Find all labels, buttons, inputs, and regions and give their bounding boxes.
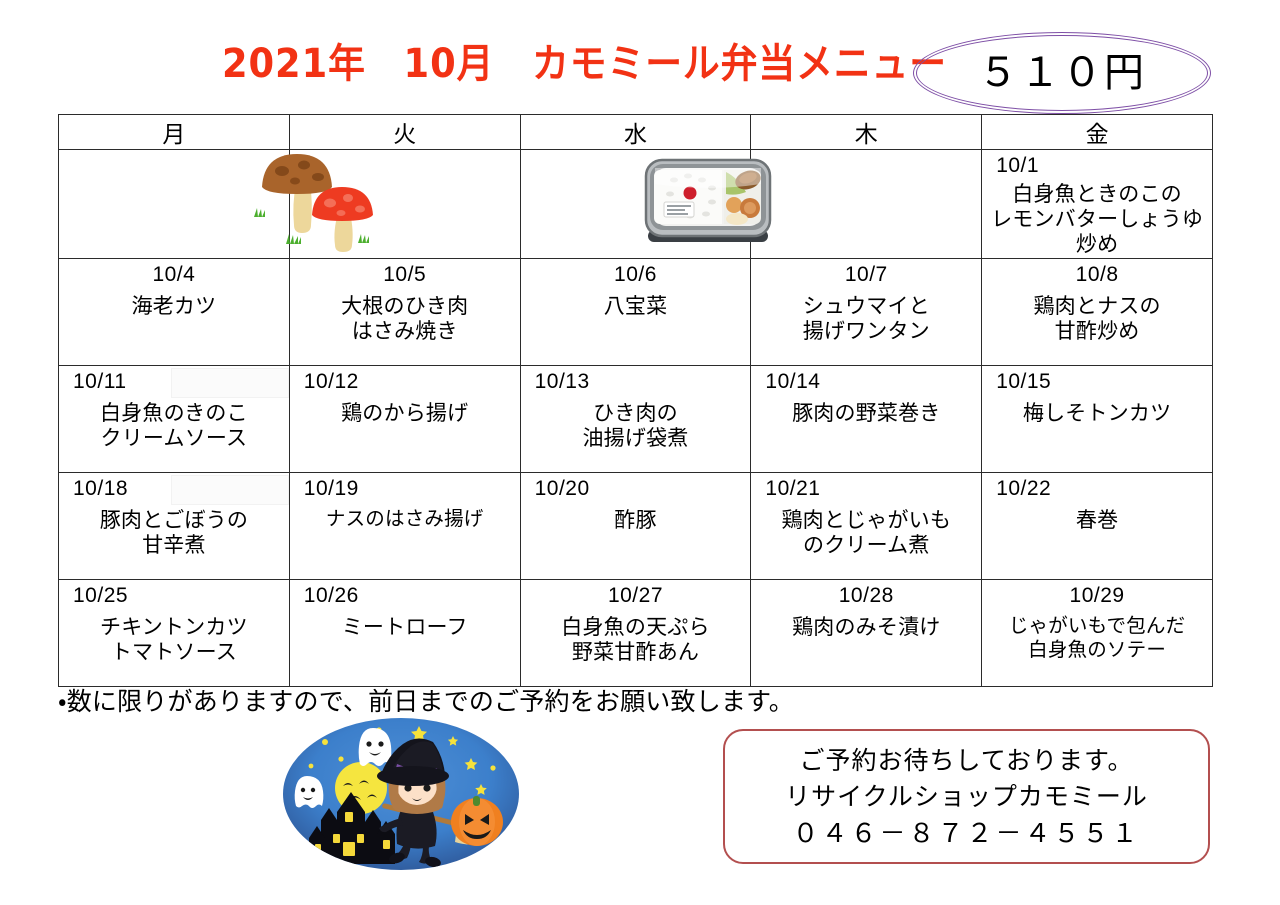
cell-dish: 鶏肉のみそ漬け xyxy=(751,609,981,640)
menu-cell-10-14: 10/14 豚肉の野菜巻き xyxy=(751,366,981,472)
cell-date: 10/12 xyxy=(290,366,520,395)
menu-cell-10-15: 10/15 梅しそトンカツ xyxy=(982,366,1212,472)
menu-cell-10-25: 10/25 チキントンカツ トマトソース xyxy=(59,580,289,686)
menu-cell-10-1: 10/1 白身魚ときのこの レモンバターしょうゆ 炒め xyxy=(982,150,1212,258)
menu-cell-10-6: 10/6 八宝菜 xyxy=(521,259,751,365)
cell-dish: シュウマイと 揚げワンタン xyxy=(751,288,981,344)
cell-date: 10/25 xyxy=(59,580,289,609)
menu-cell-10-4: 10/4 海老カツ xyxy=(59,259,289,365)
column-header-tuesday: 火 xyxy=(289,115,520,150)
cell-date: 10/20 xyxy=(521,473,751,502)
menu-cell-10-7: 10/7 シュウマイと 揚げワンタン xyxy=(751,259,981,365)
menu-cell-empty xyxy=(521,150,751,258)
menu-cell-10-22: 10/22 春巻 xyxy=(982,473,1212,579)
menu-cell-10-29: 10/29 じゃがいもで包んだ 白身魚のソテー xyxy=(982,580,1212,686)
reservation-note: ・数に限りがありますので、前日までのご予約をお願い致します。 xyxy=(58,686,794,718)
cell-date: 10/8 xyxy=(982,259,1212,288)
cell-dish: チキントンカツ トマトソース xyxy=(59,609,289,665)
cell-dish: 海老カツ xyxy=(59,288,289,319)
cell-dish: じゃがいもで包んだ 白身魚のソテー xyxy=(982,609,1212,662)
menu-cell-10-27: 10/27 白身魚の天ぷら 野菜甘酢あん xyxy=(521,580,751,686)
cell-date: 10/11 xyxy=(59,366,289,395)
cell-dish: 鶏肉とじゃがいも のクリーム煮 xyxy=(751,502,981,558)
cell-dish: ミートローフ xyxy=(290,609,520,640)
cell-date: 10/6 xyxy=(521,259,751,288)
cell-dish: 春巻 xyxy=(982,502,1212,533)
halloween-witch-icon xyxy=(281,714,521,874)
cell-date: 10/19 xyxy=(290,473,520,502)
menu-cell-10-5: 10/5 大根のひき肉 はさみ焼き xyxy=(290,259,520,365)
contact-box: ご予約お待ちしております。 リサイクルショップカモミール ０４６－８７２－４５５… xyxy=(723,729,1210,864)
column-header-wednesday: 水 xyxy=(520,115,751,150)
menu-cell-10-20: 10/20 酢豚 xyxy=(521,473,751,579)
menu-cell-10-26: 10/26 ミートローフ xyxy=(290,580,520,686)
cell-date: 10/15 xyxy=(982,366,1212,395)
cell-date: 10/22 xyxy=(982,473,1212,502)
cell-dish: 八宝菜 xyxy=(521,288,751,319)
cell-dish: 豚肉とごぼうの 甘辛煮 xyxy=(59,502,289,558)
table-row: 10/25 チキントンカツ トマトソース 10/26 ミートローフ 10/27 … xyxy=(59,580,1213,687)
cell-dish: 白身魚ときのこの レモンバターしょうゆ 炒め xyxy=(982,179,1212,257)
table-row: 10/4 海老カツ 10/5 大根のひき肉 はさみ焼き 10/6 八宝菜 10/… xyxy=(59,259,1213,366)
table-header-row: 月 火 水 木 金 xyxy=(59,115,1213,150)
column-header-thursday: 木 xyxy=(751,115,982,150)
cell-dish: 鶏のから揚げ xyxy=(290,395,520,426)
contact-line-phone: ０４６－８７２－４５５１ xyxy=(792,815,1140,851)
menu-cell-10-11: 10/11 白身魚のきのこ クリームソース xyxy=(59,366,289,472)
cell-dish: ひき肉の 油揚げ袋煮 xyxy=(521,395,751,451)
cell-date: 10/7 xyxy=(751,259,981,288)
price-value: ５１０円 xyxy=(913,32,1211,114)
menu-cell-10-18: 10/18 豚肉とごぼうの 甘辛煮 xyxy=(59,473,289,579)
menu-cell-10-21: 10/21 鶏肉とじゃがいも のクリーム煮 xyxy=(751,473,981,579)
cell-date: 10/4 xyxy=(59,259,289,288)
page-title: 2021年 10月 カモミール弁当メニュー xyxy=(222,38,947,90)
cell-date: 10/27 xyxy=(521,580,751,609)
column-header-friday: 金 xyxy=(982,115,1213,150)
menu-cell-empty xyxy=(751,150,981,258)
cell-date: 10/21 xyxy=(751,473,981,502)
cell-dish: 酢豚 xyxy=(521,502,751,533)
menu-cell-10-13: 10/13 ひき肉の 油揚げ袋煮 xyxy=(521,366,751,472)
menu-cell-10-28: 10/28 鶏肉のみそ漬け xyxy=(751,580,981,686)
cell-date: 10/5 xyxy=(290,259,520,288)
table-row: 10/18 豚肉とごぼうの 甘辛煮 10/19 ナスのはさみ揚げ 10/20 酢… xyxy=(59,473,1213,580)
cell-dish: 白身魚のきのこ クリームソース xyxy=(59,395,289,451)
cell-dish: ナスのはさみ揚げ xyxy=(290,502,520,532)
contact-line-shopname: リサイクルショップカモミール xyxy=(785,779,1148,815)
cell-date: 10/26 xyxy=(290,580,520,609)
menu-calendar-table: 月 火 水 木 金 10/1 白身魚ときのこの レモンバターしょうゆ 炒め 10… xyxy=(58,114,1213,687)
cell-date: 10/13 xyxy=(521,366,751,395)
price-badge: ５１０円 xyxy=(913,32,1211,114)
menu-cell-empty xyxy=(290,150,520,258)
cell-date: 10/18 xyxy=(59,473,289,502)
menu-cell-10-8: 10/8 鶏肉とナスの 甘酢炒め xyxy=(982,259,1212,365)
cell-date: 10/28 xyxy=(751,580,981,609)
column-header-monday: 月 xyxy=(59,115,290,150)
menu-cell-10-19: 10/19 ナスのはさみ揚げ xyxy=(290,473,520,579)
cell-date: 10/1 xyxy=(982,150,1212,179)
cell-date: 10/29 xyxy=(982,580,1212,609)
cell-dish: 梅しそトンカツ xyxy=(982,395,1212,426)
table-row: 10/11 白身魚のきのこ クリームソース 10/12 鶏のから揚げ 10/13… xyxy=(59,366,1213,473)
title-bar: 2021年 10月 カモミール弁当メニュー ５１０円 xyxy=(0,38,1280,100)
cell-date: 10/14 xyxy=(751,366,981,395)
table-row: 10/1 白身魚ときのこの レモンバターしょうゆ 炒め xyxy=(59,150,1213,259)
menu-cell-empty xyxy=(59,150,289,258)
menu-cell-10-12: 10/12 鶏のから揚げ xyxy=(290,366,520,472)
contact-line-greeting: ご予約お待ちしております。 xyxy=(799,743,1133,779)
cell-dish: 豚肉の野菜巻き xyxy=(751,395,981,426)
cell-dish: 大根のひき肉 はさみ焼き xyxy=(290,288,520,344)
cell-dish: 鶏肉とナスの 甘酢炒め xyxy=(982,288,1212,344)
cell-dish: 白身魚の天ぷら 野菜甘酢あん xyxy=(521,609,751,665)
